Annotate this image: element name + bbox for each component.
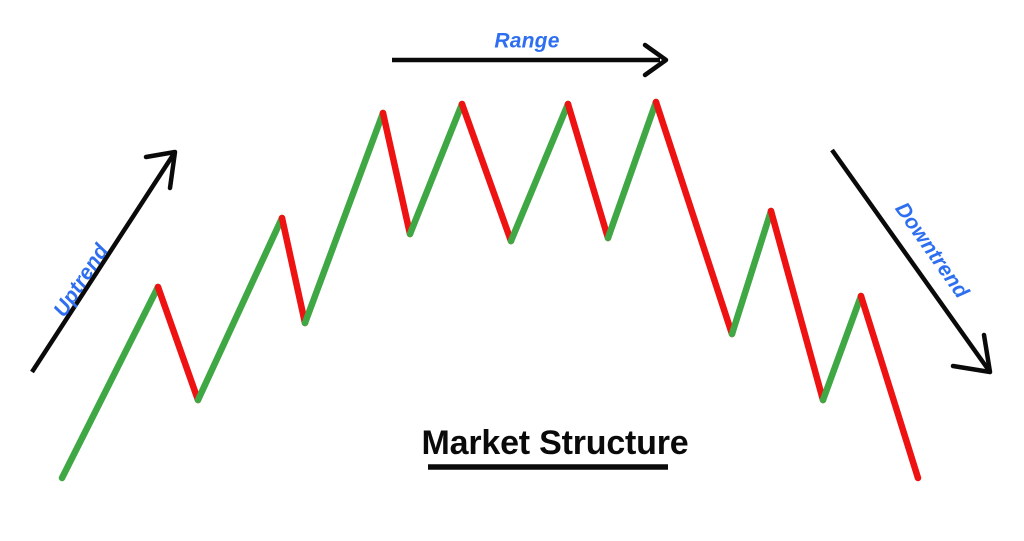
market-structure-diagram: UptrendRangeDowntrend Market Structure — [0, 0, 1024, 541]
market-structure-canvas: UptrendRangeDowntrend Market Structure — [0, 0, 1024, 541]
range-label: Range — [494, 30, 559, 53]
page-title: Market Structure — [422, 424, 689, 462]
